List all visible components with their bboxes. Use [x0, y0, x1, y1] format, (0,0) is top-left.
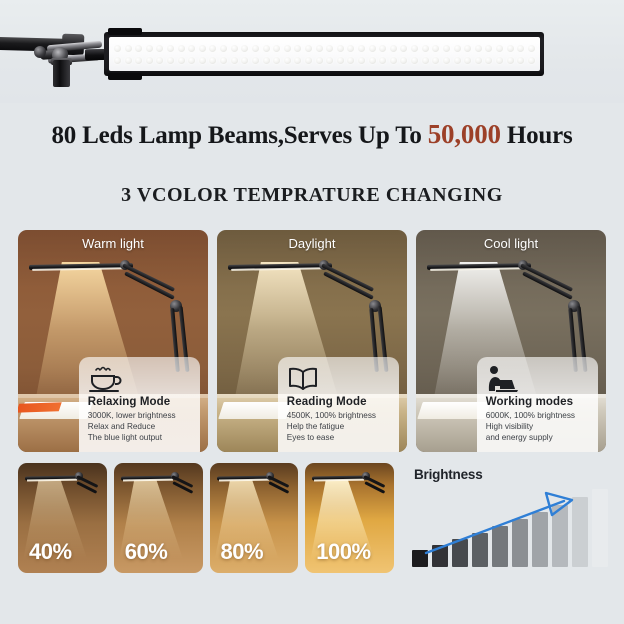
led-dot — [337, 57, 344, 64]
led-dot — [294, 45, 301, 52]
mode-info-overlay: Reading Mode 4500K, 100% brightness Help… — [278, 357, 400, 452]
card-label-daylight: Daylight — [217, 236, 407, 251]
headline-before: 80 Leds Lamp Beams,Serves Up To — [51, 122, 427, 149]
mode-title: Working modes — [486, 396, 599, 408]
chart-bar — [492, 526, 508, 567]
led-dot — [284, 45, 291, 52]
card-label-cool-light: Cool light — [416, 236, 606, 251]
led-dot — [125, 45, 132, 52]
led-dot — [390, 45, 397, 52]
led-dot — [273, 57, 280, 64]
led-dot — [284, 57, 291, 64]
led-dot — [199, 45, 206, 52]
brightness-swatch-100[interactable]: 100% — [305, 463, 394, 573]
led-dot — [347, 45, 354, 52]
lamp-mount-post — [53, 60, 70, 87]
led-dot — [517, 57, 524, 64]
mode-description: 3000K, lower brightness Relax and Reduce… — [88, 410, 201, 444]
led-dot — [316, 45, 323, 52]
led-dot — [464, 57, 471, 64]
swatch-percent-label: 80% — [221, 539, 264, 565]
led-dot — [231, 57, 238, 64]
led-dot — [528, 45, 535, 52]
chart-bar — [572, 497, 588, 567]
card-lamp-bar — [427, 263, 531, 270]
led-dot — [252, 45, 259, 52]
led-dot — [432, 57, 439, 64]
led-dot — [305, 57, 312, 64]
led-dot — [411, 57, 418, 64]
led-dot — [454, 45, 461, 52]
chart-bar — [452, 539, 468, 567]
mode-card-cool-light[interactable]: Cool light Working modes 6000K, 100% bri… — [416, 230, 606, 452]
mode-card-warm-light[interactable]: Warm light Relaxing Mode 3000K, lower br… — [18, 230, 208, 452]
led-dot — [422, 57, 429, 64]
led-dot — [475, 57, 482, 64]
swatch-lamp-bar — [121, 476, 176, 481]
led-dot — [326, 45, 333, 52]
card-lamp-bar — [228, 263, 332, 270]
led-dot — [241, 45, 248, 52]
brightness-swatch-40[interactable]: 40% — [18, 463, 107, 573]
swatch-percent-label: 100% — [316, 539, 370, 565]
chart-title: Brightness — [414, 467, 483, 482]
led-dot — [178, 45, 185, 52]
mode-description: 6000K, 100% brightness High visibility a… — [486, 410, 599, 444]
led-row-top — [114, 44, 535, 52]
led-dot — [507, 57, 514, 64]
led-dot — [369, 57, 376, 64]
lamp-joint-knob — [34, 46, 46, 58]
led-dot — [379, 45, 386, 52]
led-panel — [109, 37, 540, 71]
led-dot — [156, 57, 163, 64]
led-dot — [178, 57, 185, 64]
led-dot — [358, 57, 365, 64]
led-dot — [400, 57, 407, 64]
led-dot — [422, 45, 429, 52]
chart-bar — [592, 489, 608, 567]
lamp-head-tab-bottom — [108, 73, 142, 80]
mode-title: Reading Mode — [287, 396, 400, 408]
swatch-lamp-bar — [25, 476, 80, 481]
led-dot — [400, 45, 407, 52]
led-dot — [390, 57, 397, 64]
mode-line: Help the fatigue — [287, 421, 400, 432]
lamp-head-tab-top — [108, 28, 142, 35]
led-dot — [146, 45, 153, 52]
mode-card-daylight[interactable]: Daylight Reading Mode 4500K, 100% bright… — [217, 230, 407, 452]
mode-line: Relax and Reduce — [88, 421, 201, 432]
led-dot — [263, 57, 270, 64]
mode-line: The blue light output — [88, 432, 201, 443]
lamp-head — [104, 32, 544, 76]
led-dot — [273, 45, 280, 52]
led-dot — [454, 57, 461, 64]
led-dot — [135, 45, 142, 52]
card-lamp-illustration — [427, 256, 594, 366]
led-dot — [443, 45, 450, 52]
led-dot — [146, 57, 153, 64]
led-dot — [252, 57, 259, 64]
led-dot — [443, 57, 450, 64]
led-dot — [125, 57, 132, 64]
led-dot — [528, 57, 535, 64]
led-dot — [464, 45, 471, 52]
card-lamp-illustration — [29, 256, 196, 366]
led-dot — [220, 45, 227, 52]
mode-line: 3000K, lower brightness — [88, 410, 201, 421]
led-dot — [199, 57, 206, 64]
open-book-icon — [287, 364, 400, 394]
swatch-lamp-bar — [312, 476, 367, 481]
led-dot — [496, 45, 503, 52]
mode-line: 6000K, 100% brightness — [486, 410, 599, 421]
brightness-level-swatches: 40% 60% 80% 100% — [18, 463, 394, 573]
mode-info-overlay: Relaxing Mode 3000K, lower brightness Re… — [79, 357, 201, 452]
chart-bar — [412, 550, 428, 567]
mode-info-overlay: Working modes 6000K, 100% brightness Hig… — [477, 357, 599, 452]
swatch-lamp-bar — [217, 476, 272, 481]
headline: 80 Leds Lamp Beams,Serves Up To 50,000 H… — [0, 119, 624, 150]
card-label-warm-light: Warm light — [18, 236, 208, 251]
led-dot — [358, 45, 365, 52]
led-dot — [305, 45, 312, 52]
led-dot — [496, 57, 503, 64]
chart-bar — [532, 512, 548, 567]
led-dot — [507, 45, 514, 52]
person-laptop-icon — [486, 364, 599, 394]
chart-bar — [432, 545, 448, 567]
subheadline: 3 VCOLOR TEMPRATURE CHANGING — [0, 184, 624, 207]
led-dot — [188, 57, 195, 64]
brightness-chart: Brightness — [404, 463, 610, 573]
led-dot — [485, 45, 492, 52]
chart-bar — [472, 533, 488, 567]
led-dot — [167, 57, 174, 64]
hero-product-image — [0, 0, 624, 103]
chart-bar — [552, 505, 568, 567]
led-dot — [432, 45, 439, 52]
led-dot — [326, 57, 333, 64]
led-dot — [114, 45, 121, 52]
led-dot — [294, 57, 301, 64]
led-dot — [411, 45, 418, 52]
brightness-swatch-60[interactable]: 60% — [114, 463, 203, 573]
led-dot — [347, 57, 354, 64]
mode-line: High visibility — [486, 421, 599, 432]
led-dot — [231, 45, 238, 52]
led-dot — [209, 45, 216, 52]
led-dot — [475, 45, 482, 52]
swatch-percent-label: 60% — [125, 539, 168, 565]
led-dot — [188, 45, 195, 52]
coffee-cup-icon — [88, 364, 201, 394]
led-dot — [263, 45, 270, 52]
chart-bar — [512, 519, 528, 567]
led-dot — [220, 57, 227, 64]
mode-line: 4500K, 100% brightness — [287, 410, 400, 421]
led-dot — [379, 57, 386, 64]
mode-line: Eyes to ease — [287, 432, 400, 443]
led-dot — [209, 57, 216, 64]
led-dot — [337, 45, 344, 52]
mode-line: and energy supply — [486, 432, 599, 443]
led-dot — [316, 57, 323, 64]
led-dot — [485, 57, 492, 64]
led-dot — [517, 45, 524, 52]
led-dot — [135, 57, 142, 64]
mode-title: Relaxing Mode — [88, 396, 201, 408]
mode-description: 4500K, 100% brightness Help the fatigue … — [287, 410, 400, 444]
color-temperature-cards: Warm light Relaxing Mode 3000K, lower br… — [18, 230, 606, 452]
led-row-bottom — [114, 56, 535, 64]
desk-accent-strip — [18, 402, 62, 412]
led-dot — [114, 57, 121, 64]
led-dot — [241, 57, 248, 64]
headline-accent-hours: 50,000 — [428, 119, 501, 149]
brightness-swatch-80[interactable]: 80% — [210, 463, 299, 573]
led-dot — [156, 45, 163, 52]
headline-after: Hours — [501, 122, 573, 149]
chart-bars — [412, 489, 608, 567]
led-dot — [369, 45, 376, 52]
lamp-illustration — [0, 22, 560, 84]
card-lamp-illustration — [228, 256, 395, 366]
led-dot — [167, 45, 174, 52]
card-lamp-bar — [29, 263, 133, 270]
swatch-percent-label: 40% — [29, 539, 72, 565]
